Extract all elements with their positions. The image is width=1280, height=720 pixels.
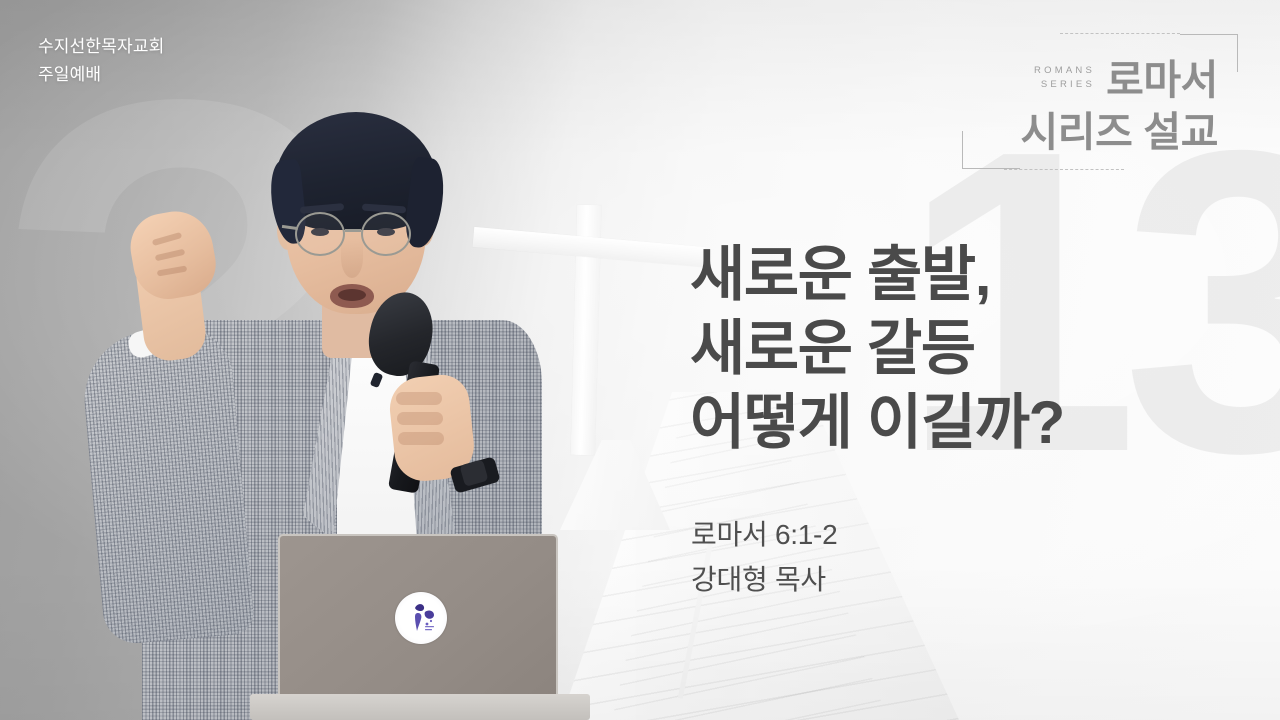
series-korean-title: 로마서: [1106, 60, 1218, 100]
sermon-thumbnail: ? 13: [0, 0, 1280, 720]
series-english-label: ROMANS SERIES: [1034, 64, 1095, 100]
church-name: 수지선한목자교회: [38, 33, 164, 61]
sermon-subtitle: 로마서 6:1-2 강대형 목사: [691, 513, 837, 603]
service-name: 주일예배: [38, 61, 164, 89]
series-english-line2: SERIES: [1041, 78, 1095, 91]
church-identity: 수지선한목자교회 주일예배: [38, 33, 164, 88]
series-korean-subtitle: 시리즈 설교: [1020, 112, 1218, 153]
eyeglass-bridge: [345, 229, 361, 232]
eyeglass-lens-right: [361, 212, 411, 256]
badge-corner-bottom-left: [962, 131, 1020, 169]
church-logo-sticker-icon: [395, 592, 447, 644]
series-badge: ROMANS SERIES 로마서 시리즈 설교: [980, 34, 1222, 169]
series-english-line1: ROMANS: [1034, 64, 1095, 77]
series-badge-row-top: ROMANS SERIES 로마서: [1034, 60, 1218, 100]
eyeglass-lens-left: [295, 212, 345, 256]
mouth-opening: [338, 289, 366, 301]
laptop-base: [250, 694, 590, 720]
finger: [396, 392, 442, 405]
sermon-title: 새로운 출발, 새로운 갈등 어떻게 이길까?: [690, 238, 1064, 459]
finger: [397, 412, 443, 425]
badge-dashed-line-bottom: [1004, 169, 1124, 170]
nose: [341, 238, 363, 278]
finger: [398, 432, 444, 445]
raised-arm-sleeve: [79, 324, 255, 646]
badge-dashed-line-top: [1060, 33, 1180, 34]
